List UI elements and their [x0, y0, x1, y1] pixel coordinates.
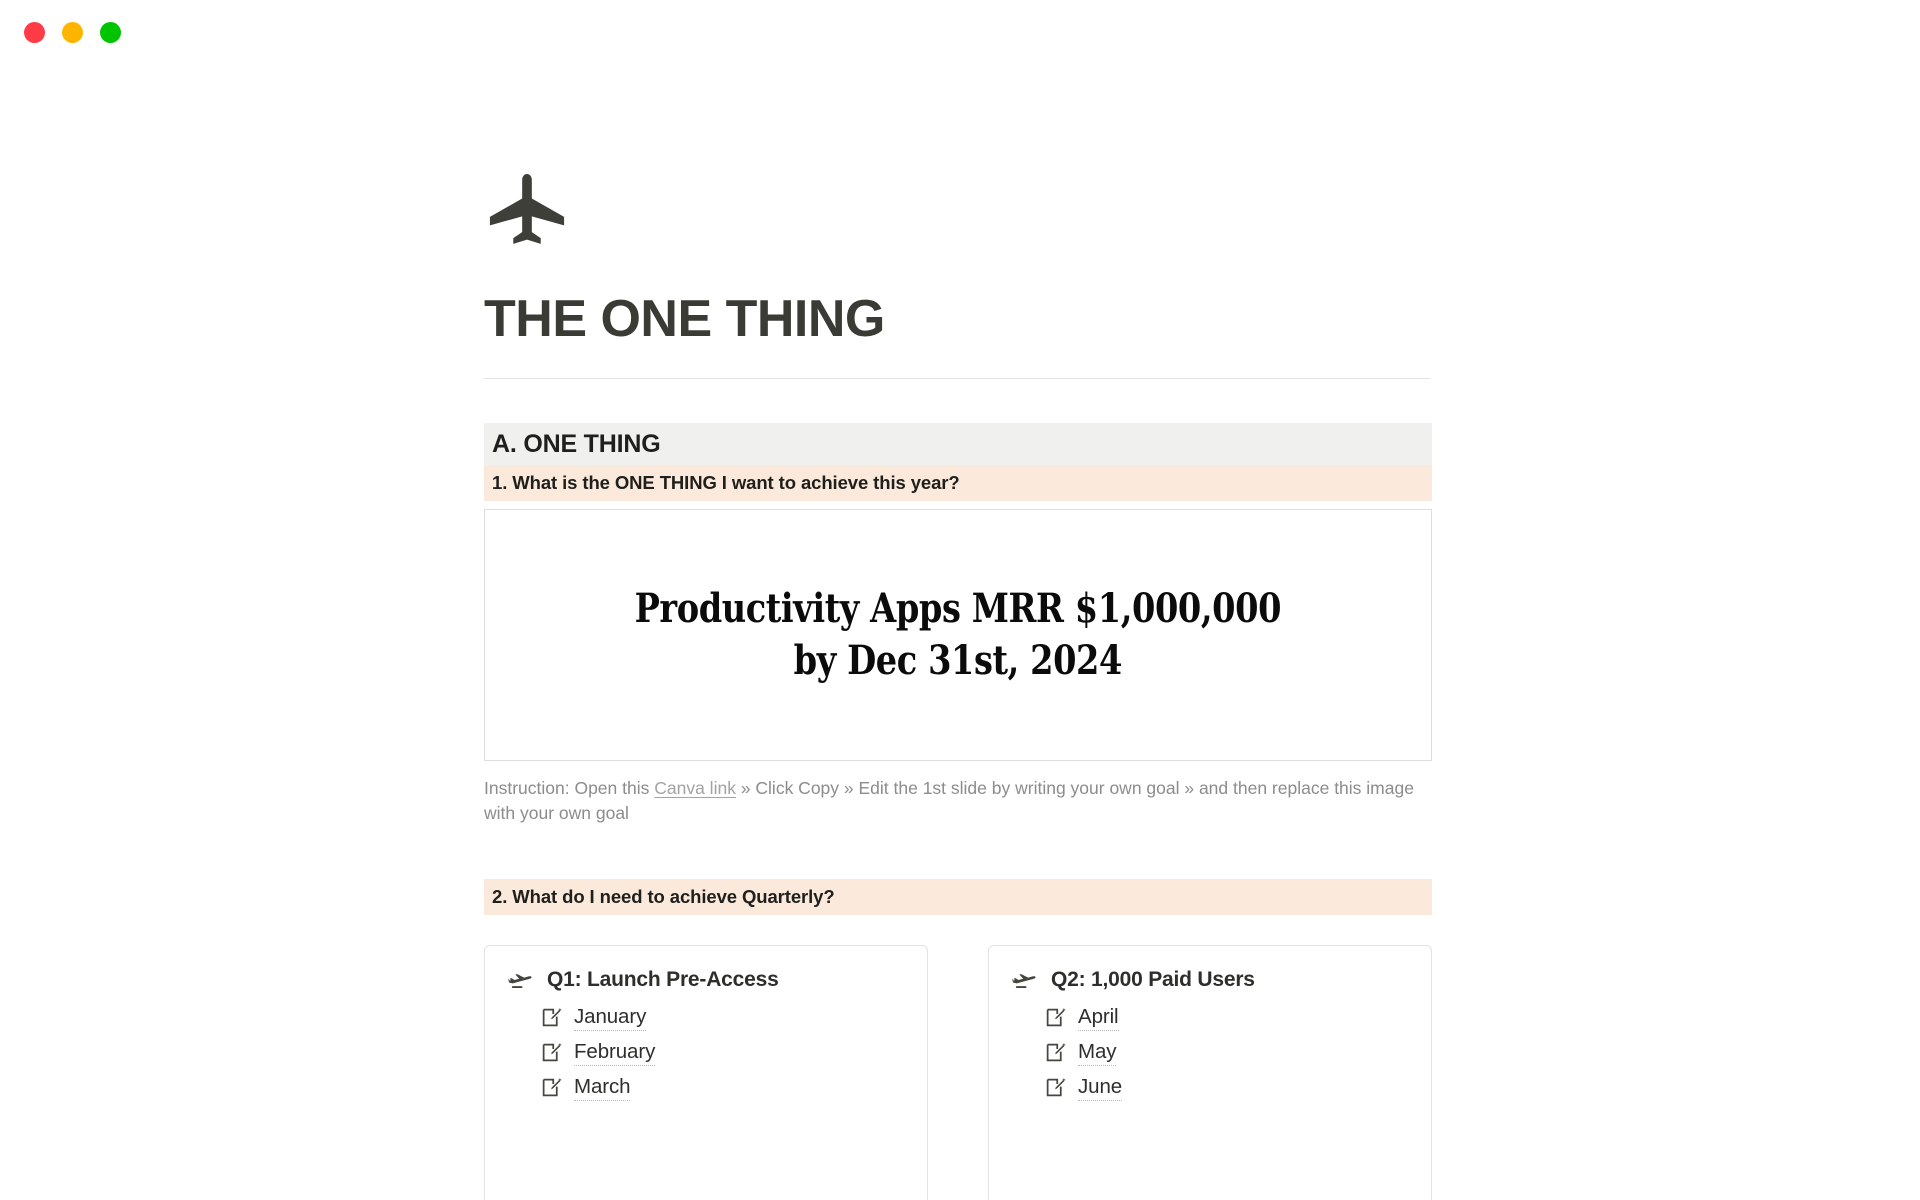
quarter-card-q1: Q1: Launch Pre-Access January	[484, 945, 928, 1200]
quarter-cards: Q1: Launch Pre-Access January	[484, 945, 1434, 1200]
title-divider	[484, 378, 1430, 379]
instruction-text: Instruction: Open this Canva link » Clic…	[484, 776, 1434, 825]
quarter-card-header: Q1: Launch Pre-Access	[507, 968, 903, 992]
document-page: THE ONE THING A. ONE THING 1. What is th…	[0, 62, 1920, 1200]
close-window-button[interactable]	[24, 22, 45, 43]
section-heading-one-thing: A. ONE THING	[484, 423, 1432, 465]
window-titlebar	[0, 0, 1920, 62]
month-link[interactable]: January	[574, 1005, 646, 1031]
goal-line-1: Productivity Apps MRR $1,000,000	[635, 583, 1281, 635]
instruction-before-link: Instruction: Open this	[484, 778, 654, 798]
quarter-card-header: Q2: 1,000 Paid Users	[1011, 968, 1407, 992]
month-row[interactable]: May	[1045, 1035, 1407, 1070]
section-heading-label: A. ONE THING	[492, 430, 660, 459]
memo-icon	[1045, 1042, 1066, 1063]
quarter-card-title: Q2: 1,000 Paid Users	[1051, 968, 1255, 992]
month-link[interactable]: April	[1078, 1005, 1119, 1031]
memo-icon	[541, 1042, 562, 1063]
memo-icon	[541, 1007, 562, 1028]
month-row[interactable]: June	[1045, 1070, 1407, 1105]
question-1-label: 1. What is the ONE THING I want to achie…	[492, 472, 960, 494]
month-link[interactable]: June	[1078, 1075, 1122, 1101]
page-title: THE ONE THING	[484, 290, 1434, 348]
month-link[interactable]: May	[1078, 1040, 1116, 1066]
maximize-window-button[interactable]	[100, 22, 121, 43]
question-1-band: 1. What is the ONE THING I want to achie…	[484, 465, 1432, 501]
month-row[interactable]: February	[541, 1035, 903, 1070]
airplane-departure-icon	[507, 969, 533, 991]
memo-icon	[1045, 1007, 1066, 1028]
month-row[interactable]: April	[1045, 1000, 1407, 1035]
question-2-band: 2. What do I need to achieve Quarterly?	[484, 879, 1432, 915]
app-window: THE ONE THING A. ONE THING 1. What is th…	[0, 0, 1920, 1200]
quarter-card-title: Q1: Launch Pre-Access	[547, 968, 779, 992]
window-controls	[24, 22, 121, 43]
goal-image-text: Productivity Apps MRR $1,000,000 by Dec …	[635, 583, 1281, 687]
month-link[interactable]: March	[574, 1075, 630, 1101]
memo-icon	[541, 1077, 562, 1098]
goal-image-frame[interactable]: Productivity Apps MRR $1,000,000 by Dec …	[484, 509, 1432, 761]
goal-line-2: by Dec 31st, 2024	[635, 635, 1281, 687]
month-list: April May	[1011, 1000, 1407, 1105]
quarter-card-q2: Q2: 1,000 Paid Users April	[988, 945, 1432, 1200]
memo-icon	[1045, 1077, 1066, 1098]
month-list: January February	[507, 1000, 903, 1105]
question-2-label: 2. What do I need to achieve Quarterly?	[492, 886, 835, 908]
month-row[interactable]: March	[541, 1070, 903, 1105]
minimize-window-button[interactable]	[62, 22, 83, 43]
document-content: THE ONE THING A. ONE THING 1. What is th…	[484, 62, 1434, 1200]
month-link[interactable]: February	[574, 1040, 655, 1066]
month-row[interactable]: January	[541, 1000, 903, 1035]
airplane-departure-icon	[1011, 969, 1037, 991]
airplane-icon	[484, 170, 570, 256]
canva-link[interactable]: Canva link	[654, 778, 736, 798]
